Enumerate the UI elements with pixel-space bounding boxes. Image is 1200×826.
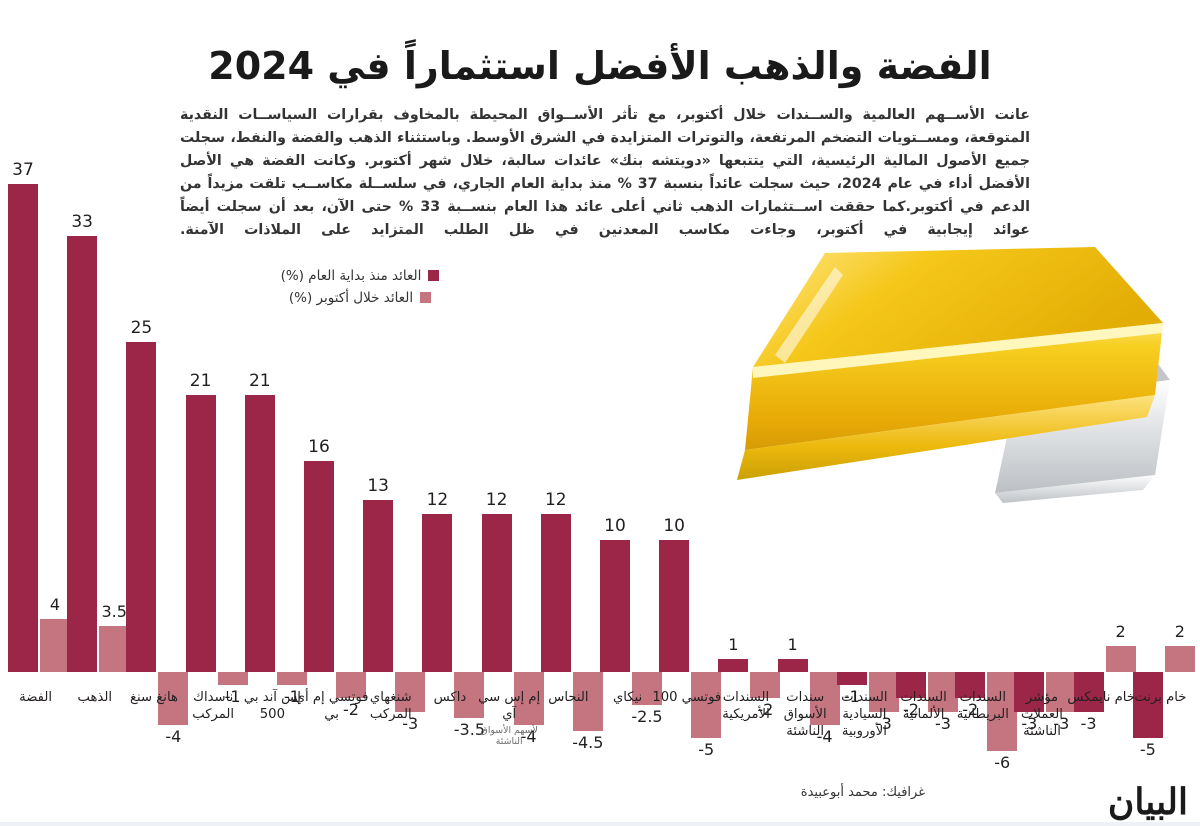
chart-column: 12-4.5 [541, 130, 600, 675]
bar-ytd [126, 342, 156, 672]
bar-ytd [363, 500, 393, 672]
chart-column: 1-2 [718, 130, 777, 675]
chart-column: -2-3 [896, 130, 955, 675]
bar-value-label: 33 [54, 212, 110, 232]
bar-value-label: 12 [409, 490, 465, 510]
albayan-logo: البيان [1108, 784, 1188, 820]
bar-oct [1165, 646, 1195, 672]
bar-ytd [482, 514, 512, 672]
x-axis-label-sub: لأسهم الأسواق الناشئة [472, 725, 547, 748]
bar-value-label: 21 [232, 371, 288, 391]
bar-value-label: 10 [646, 516, 702, 536]
chart-column: 10-5 [659, 130, 718, 675]
bar-oct [40, 619, 70, 672]
bar-ytd [778, 659, 808, 672]
chart-column: -1-3 [837, 130, 896, 675]
chart-column: 25-4 [126, 130, 185, 675]
chart-column: 12-3.5 [422, 130, 481, 675]
chart-x-axis: الفضةالذهبهانغ سنغناسداك المركبإس آند بي… [0, 690, 1200, 785]
chart-column: 1-4 [778, 130, 837, 675]
bar-value-label: 12 [469, 490, 525, 510]
bar-oct [1106, 646, 1136, 672]
chart-column: 333.5 [67, 130, 126, 675]
chart-column: 12-4 [482, 130, 541, 675]
x-axis-label: خام برنت [1123, 690, 1198, 707]
bar-ytd [541, 514, 571, 672]
chart-column: 21-1 [186, 130, 245, 675]
chart-column: -3-3 [1014, 130, 1073, 675]
chart-column: -52 [1133, 130, 1192, 675]
footer-rule [0, 822, 1200, 826]
bar-value-label: 13 [350, 476, 406, 496]
chart-column: 16-2 [304, 130, 363, 675]
bar-oct [99, 626, 129, 672]
chart-column: 10-2.5 [600, 130, 659, 675]
bar-oct [277, 672, 307, 685]
chart-column: -32 [1074, 130, 1133, 675]
bar-value-label: 10 [587, 516, 643, 536]
bar-ytd [245, 395, 275, 672]
page-title: الفضة والذهب الأفضل استثماراً في 2024 [0, 45, 1200, 89]
chart-column: 21-1 [245, 130, 304, 675]
bar-ytd [718, 659, 748, 672]
bar-chart: 374333.525-421-121-116-213-312-3.512-412… [0, 130, 1200, 675]
bar-ytd [600, 540, 630, 672]
bar-value-label: 16 [291, 437, 347, 457]
bar-value-label: 12 [528, 490, 584, 510]
chart-column: -2-6 [955, 130, 1014, 675]
bar-oct [218, 672, 248, 685]
bar-value-label: 1 [765, 635, 821, 654]
bar-value-label: 1 [705, 635, 761, 654]
infographic-page: الفضة والذهب الأفضل استثماراً في 2024 عا… [0, 0, 1200, 826]
bar-ytd [304, 461, 334, 672]
bar-ytd [186, 395, 216, 672]
bar-value-label: 37 [0, 160, 51, 180]
chart-column: 13-3 [363, 130, 422, 675]
bar-value-label: 2 [1152, 622, 1200, 641]
bar-value-label: 25 [113, 318, 169, 338]
bar-ytd [659, 540, 689, 672]
bar-ytd [837, 672, 867, 685]
bar-ytd [422, 514, 452, 672]
chart-plot-area: 374333.525-421-121-116-213-312-3.512-412… [0, 130, 1200, 675]
graphic-credit: غرافيك: محمد أبوعبيدة [801, 785, 925, 800]
bar-value-label: 21 [173, 371, 229, 391]
